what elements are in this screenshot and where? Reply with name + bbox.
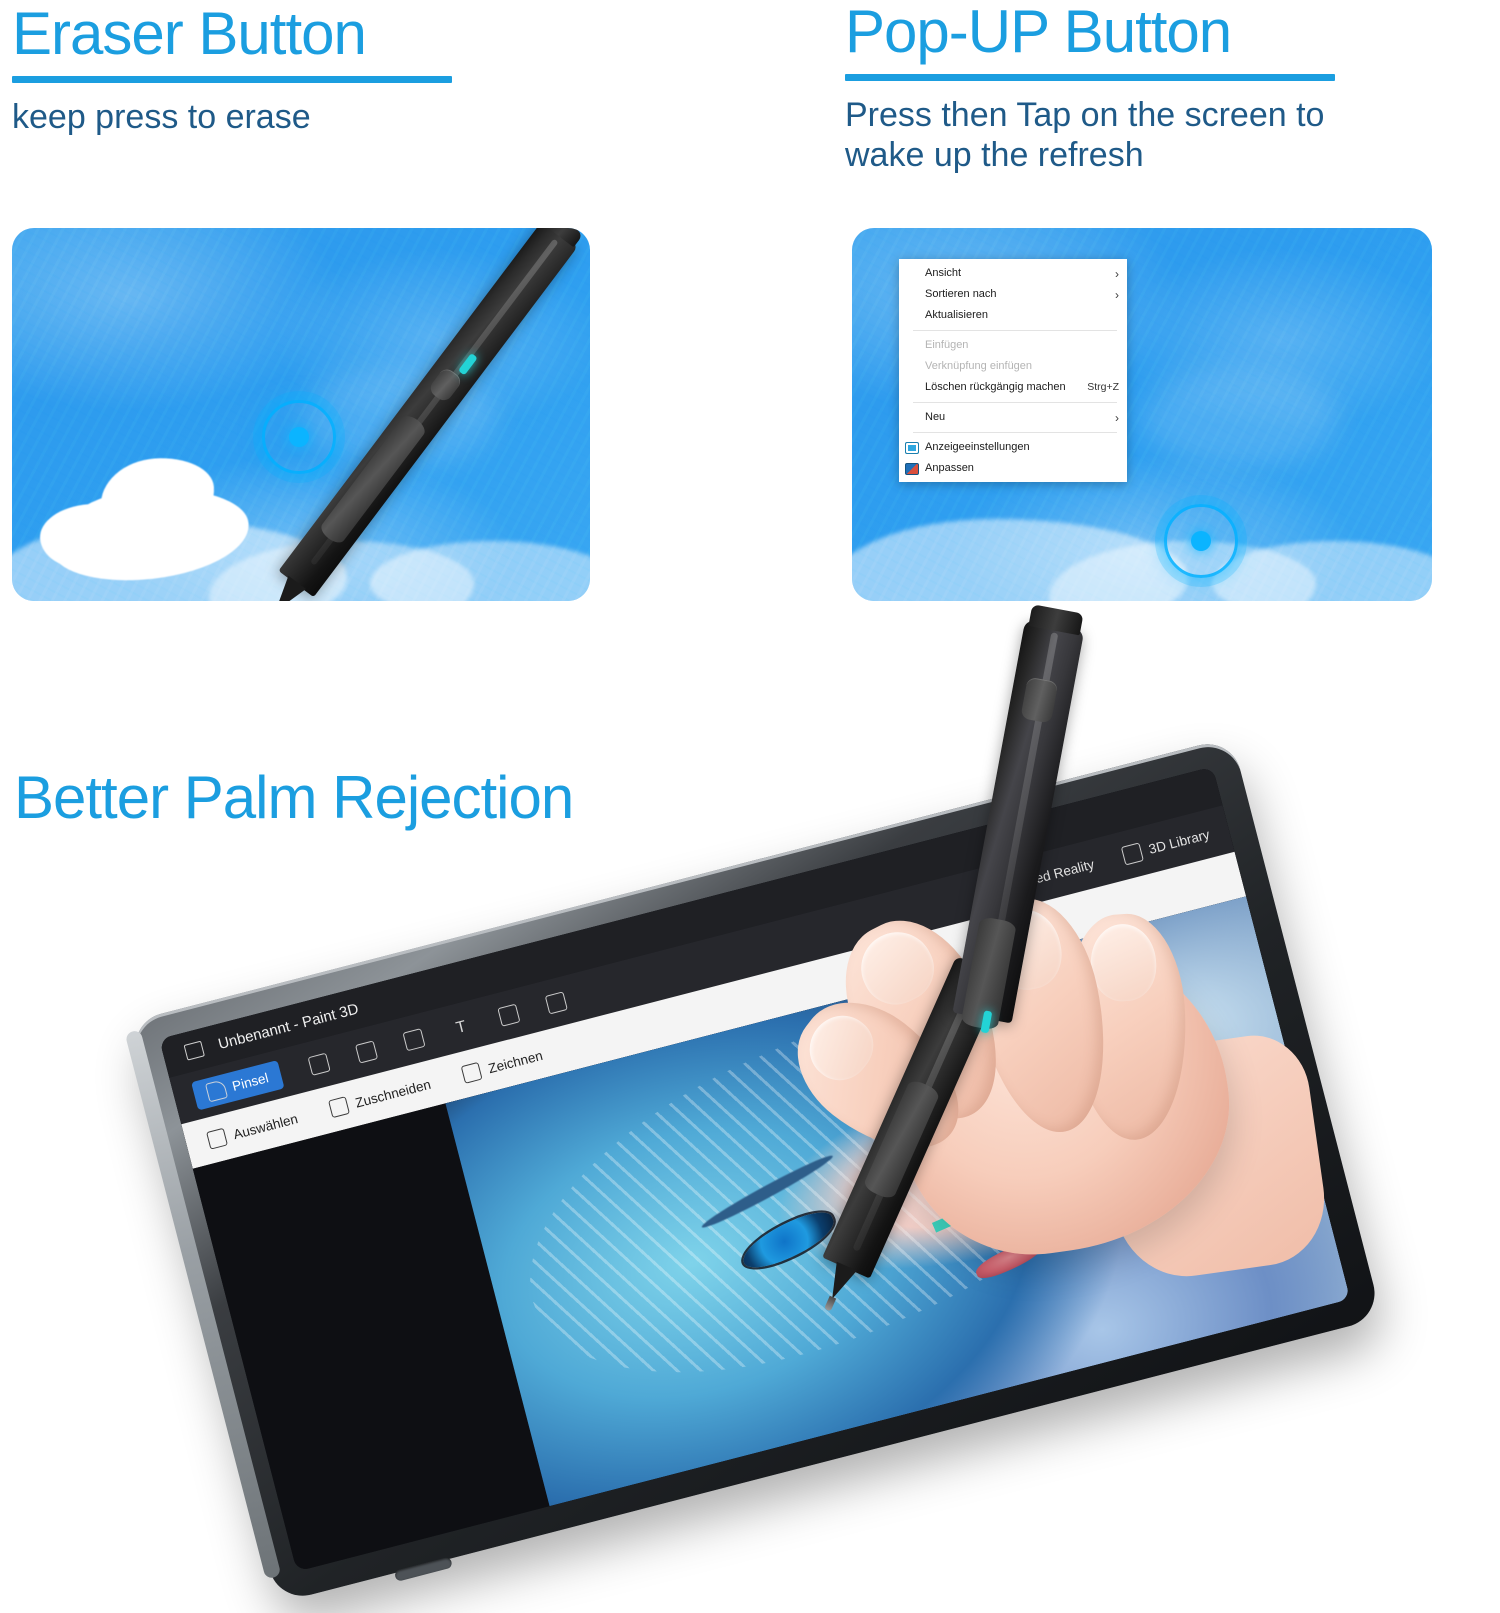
palm-rejection-scene: Better Palm Rejection Unbenannt - Paint … (0, 620, 1500, 1482)
menu-item-label: Einfügen (925, 340, 1119, 351)
menu-item-shortcut: Strg+Z (1079, 382, 1119, 393)
chevron-right-icon: › (1115, 412, 1119, 424)
context-menu-item-anpassen[interactable]: Anpassen (899, 458, 1127, 479)
press-ripple-indicator (262, 400, 336, 474)
context-menu-item-aktualisieren[interactable]: Aktualisieren (899, 305, 1127, 326)
menu-separator (913, 432, 1117, 433)
ribbon-tab-label: Pinsel (230, 1070, 269, 1094)
ribbon-item-canvas[interactable] (497, 1003, 520, 1026)
ribbon-item-magic-select[interactable] (307, 1052, 330, 1075)
menu-item-label: Neu (925, 412, 1109, 423)
crop-icon (328, 1096, 350, 1118)
eraser-heading-block: Eraser Button keep press to erase (12, 4, 452, 137)
popup-title: Pop-UP Button (845, 2, 1335, 62)
menu-separator (913, 330, 1117, 331)
context-menu-item-sortieren-nach[interactable]: Sortieren nach › (899, 284, 1127, 305)
fingernail (849, 920, 945, 1016)
context-menu-item-ansicht[interactable]: Ansicht › (899, 263, 1127, 284)
context-menu-item-einfuegen: Einfügen (899, 335, 1127, 356)
context-menu-item-loeschen-rueckgaengig[interactable]: Löschen rückgängig machen Strg+Z (899, 377, 1127, 398)
chevron-right-icon: › (1115, 289, 1119, 301)
personalize-icon (905, 463, 919, 475)
popup-title-underline (845, 74, 1335, 81)
window-menu-icon[interactable] (184, 1041, 205, 1061)
menu-item-label: Löschen rückgängig machen (925, 382, 1079, 393)
palm-title: Better Palm Rejection (14, 768, 714, 828)
tool-label: Zuschneiden (354, 1076, 433, 1110)
draw-icon (461, 1062, 483, 1084)
menu-item-label: Ansicht (925, 268, 1109, 279)
fingernail (1088, 922, 1158, 1003)
tool-label: Auswählen (232, 1111, 300, 1142)
library-icon (1120, 842, 1143, 865)
text-icon: T (450, 1015, 473, 1038)
popup-demo-image: Ansicht › Sortieren nach › Aktualisieren… (852, 228, 1432, 601)
chevron-right-icon: › (1115, 268, 1119, 280)
press-ripple-indicator (1164, 504, 1238, 578)
effects-icon (402, 1028, 425, 1051)
menu-item-label: Aktualisieren (925, 310, 1119, 321)
menu-item-label: Anzeigeeinstellungen (925, 442, 1119, 453)
paint-wash (852, 519, 1188, 601)
context-menu-item-anzeigeeinstellungen[interactable]: Anzeigeeinstellungen (899, 437, 1127, 458)
menu-item-label: Sortieren nach (925, 289, 1109, 300)
ribbon-item-3d-library[interactable]: 3D Library (1120, 824, 1211, 865)
ribbon-item-sticker[interactable] (355, 1040, 378, 1063)
magic-select-icon (307, 1052, 330, 1075)
paint-wash (1142, 370, 1339, 467)
eraser-subtitle: keep press to erase (12, 97, 452, 137)
eraser-title: Eraser Button (12, 4, 452, 64)
display-settings-icon (905, 442, 919, 454)
context-menu-item-verknuepfung-einfuegen: Verknüpfung einfügen (899, 356, 1127, 377)
eraser-title-underline (12, 76, 452, 83)
windows-context-menu[interactable]: Ansicht › Sortieren nach › Aktualisieren… (899, 259, 1127, 482)
paint-wash (1212, 541, 1432, 601)
canvas-icon (497, 1003, 520, 1026)
tool-zeichnen[interactable]: Zeichnen (461, 1046, 544, 1084)
shapes-icon (544, 991, 567, 1014)
sticker-icon (355, 1040, 378, 1063)
ribbon-item-text[interactable]: T (450, 1015, 473, 1038)
ribbon-item-effects[interactable] (402, 1028, 425, 1051)
eraser-demo-image (12, 228, 590, 601)
paint-wash (370, 541, 590, 601)
select-icon (206, 1128, 228, 1150)
context-menu-item-neu[interactable]: Neu › (899, 407, 1127, 428)
brush-icon (205, 1079, 228, 1102)
tool-label: Zeichnen (487, 1047, 545, 1075)
menu-item-label: Verknüpfung einfügen (925, 361, 1119, 372)
palm-heading-block: Better Palm Rejection (14, 768, 714, 828)
popup-subtitle: Press then Tap on the screen to wake up … (845, 95, 1335, 175)
menu-item-label: Anpassen (925, 463, 1119, 474)
menu-separator (913, 402, 1117, 403)
ribbon-item-label: 3D Library (1147, 826, 1211, 856)
ribbon-item-3d-shapes[interactable] (544, 991, 567, 1014)
popup-heading-block: Pop-UP Button Press then Tap on the scre… (845, 2, 1335, 175)
